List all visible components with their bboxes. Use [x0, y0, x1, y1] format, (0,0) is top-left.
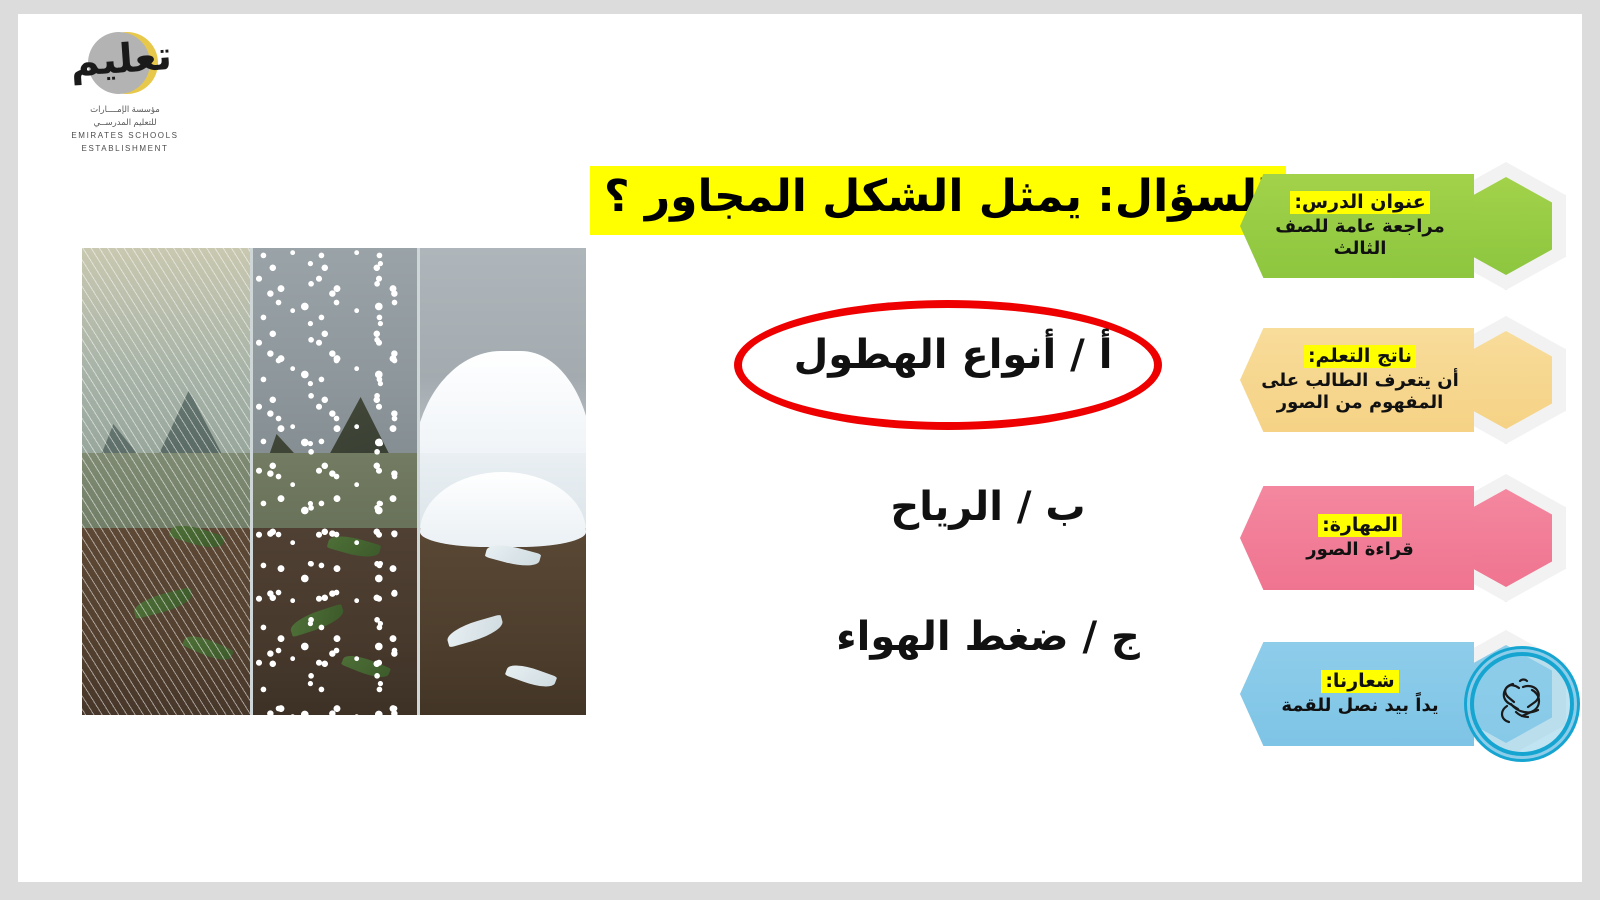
- esе-logo: تعليم مؤسسة الإمــــارات للتعليم المدرسـ…: [66, 24, 196, 149]
- rain-streaks: [82, 248, 253, 715]
- banner-label: عنوان الدرس:: [1290, 191, 1429, 214]
- question-title: السؤال: يمثل الشكل المجاور ؟: [590, 166, 1286, 235]
- banner-value: قراءة الصور: [1306, 539, 1414, 562]
- banner-value: يداً بيد نصل للقمة: [1281, 695, 1438, 718]
- logo-org-english-line1: EMIRATES SCHOOLS: [66, 130, 184, 141]
- banner-lesson-title: عنوان الدرس: مراجعة عامة للصف الثالث: [1240, 174, 1474, 278]
- banner-skill: المهارة: قراءة الصور: [1240, 486, 1474, 590]
- hail-panel: [253, 248, 419, 715]
- snow-panel: [420, 248, 586, 715]
- precipitation-image: [82, 248, 586, 715]
- banner-learning-outcome: ناتج التعلم: أن يتعرف الطالب على المفهوم…: [1240, 328, 1474, 432]
- banner-label: شعارنا:: [1321, 670, 1398, 693]
- rain-panel: [82, 248, 253, 715]
- answer-option-a[interactable]: أ / أنواع الهطول: [778, 332, 1128, 378]
- logo-mark: تعليم: [66, 24, 196, 102]
- handshake-icon: [1470, 652, 1574, 756]
- answer-option-b[interactable]: ب / الرياح: [848, 484, 1128, 530]
- banner-value: مراجعة عامة للصف الثالث: [1256, 216, 1464, 261]
- banner-value: أن يتعرف الطالب على المفهوم من الصور: [1256, 370, 1464, 415]
- hail-particles: [253, 248, 416, 715]
- banner-slogan: شعارنا: يداً بيد نصل للقمة: [1240, 642, 1474, 746]
- banner-label: المهارة:: [1318, 514, 1402, 537]
- slide-canvas: تعليم مؤسسة الإمــــارات للتعليم المدرسـ…: [0, 0, 1600, 900]
- logo-org-arabic-line2: للتعليم المدرســي: [66, 117, 184, 128]
- slide-page: تعليم مؤسسة الإمــــارات للتعليم المدرسـ…: [18, 14, 1582, 882]
- logo-org-arabic-line1: مؤسسة الإمــــارات: [66, 104, 184, 115]
- answer-option-c[interactable]: ج / ضغط الهواء: [828, 614, 1148, 660]
- logo-org-english-line2: ESTABLISHMENT: [66, 143, 184, 154]
- logo-arabic-wordmark: تعليم: [79, 17, 175, 105]
- banner-label: ناتج التعلم:: [1304, 345, 1416, 368]
